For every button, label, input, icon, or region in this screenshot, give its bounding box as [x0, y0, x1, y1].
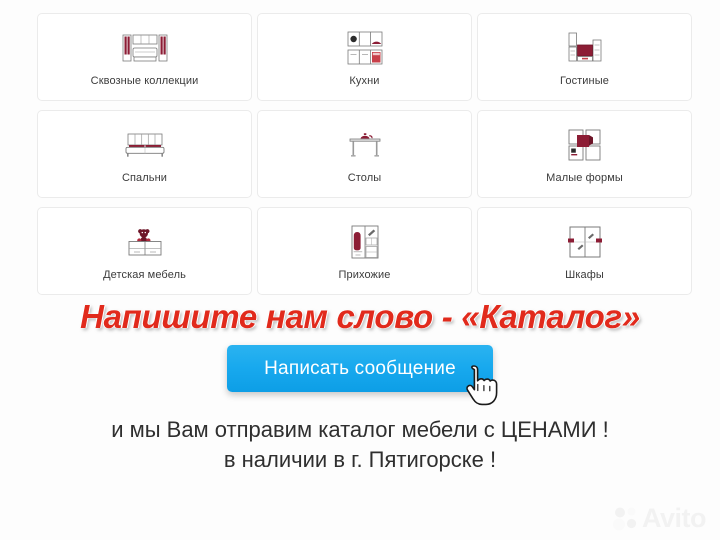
living-room-unit-icon: [566, 27, 604, 69]
category-tile-spalni[interactable]: Спальни: [37, 110, 252, 198]
category-tile-label: Кухни: [349, 75, 379, 87]
category-tile-prihozhie[interactable]: Прихожие: [257, 207, 472, 295]
category-tile-stoly[interactable]: Столы: [257, 110, 472, 198]
category-grid: Сквозные коллекции Кухни: [37, 13, 693, 295]
category-tile-gostinye[interactable]: Гостиные: [477, 13, 692, 101]
category-tile-detskaya-mebel[interactable]: Детская мебель: [37, 207, 252, 295]
small-forms-grid-icon: [568, 124, 602, 166]
avito-logo-icon: [613, 506, 639, 532]
category-tile-label: Малые формы: [546, 172, 623, 184]
category-tile-malye-formy[interactable]: Малые формы: [477, 110, 692, 198]
category-tile-label: Столы: [348, 172, 382, 184]
cta-button-container: Написать сообщение: [0, 345, 720, 392]
hallway-wardrobe-icon: [351, 221, 379, 263]
promo-subtext: и мы Вам отправим каталог мебели с ЦЕНАМ…: [0, 415, 720, 475]
category-tile-kuhni[interactable]: Кухни: [257, 13, 472, 101]
category-tile-label: Спальни: [122, 172, 167, 184]
category-tile-label: Гостиные: [560, 75, 609, 87]
kitchen-cabinets-icon: [347, 27, 383, 69]
avito-watermark-text: Avito: [642, 505, 706, 532]
category-tile-label: Детская мебель: [103, 269, 186, 281]
category-tile-label: Прихожие: [339, 269, 391, 281]
wardrobe-icon: [568, 221, 602, 263]
promo-headline: Напишите нам слово - «Каталог»: [0, 298, 720, 336]
category-tile-skvoznye-kollekcii[interactable]: Сквозные коллекции: [37, 13, 252, 101]
category-tile-label: Шкафы: [565, 269, 604, 281]
avito-watermark: Avito: [613, 505, 706, 532]
wall-unit-icon: [122, 27, 168, 69]
category-tile-shkafy[interactable]: Шкафы: [477, 207, 692, 295]
bed-icon: [124, 124, 166, 166]
promo-subtext-line-1: и мы Вам отправим каталог мебели с ЦЕНАМ…: [0, 415, 720, 445]
category-tile-label: Сквозные коллекции: [91, 75, 199, 87]
table-with-teapot-icon: [347, 124, 383, 166]
write-message-button[interactable]: Написать сообщение: [227, 345, 493, 392]
promo-subtext-line-2: в наличии в г. Пятигорске !: [0, 445, 720, 475]
teddy-bear-dresser-icon: [125, 221, 165, 263]
